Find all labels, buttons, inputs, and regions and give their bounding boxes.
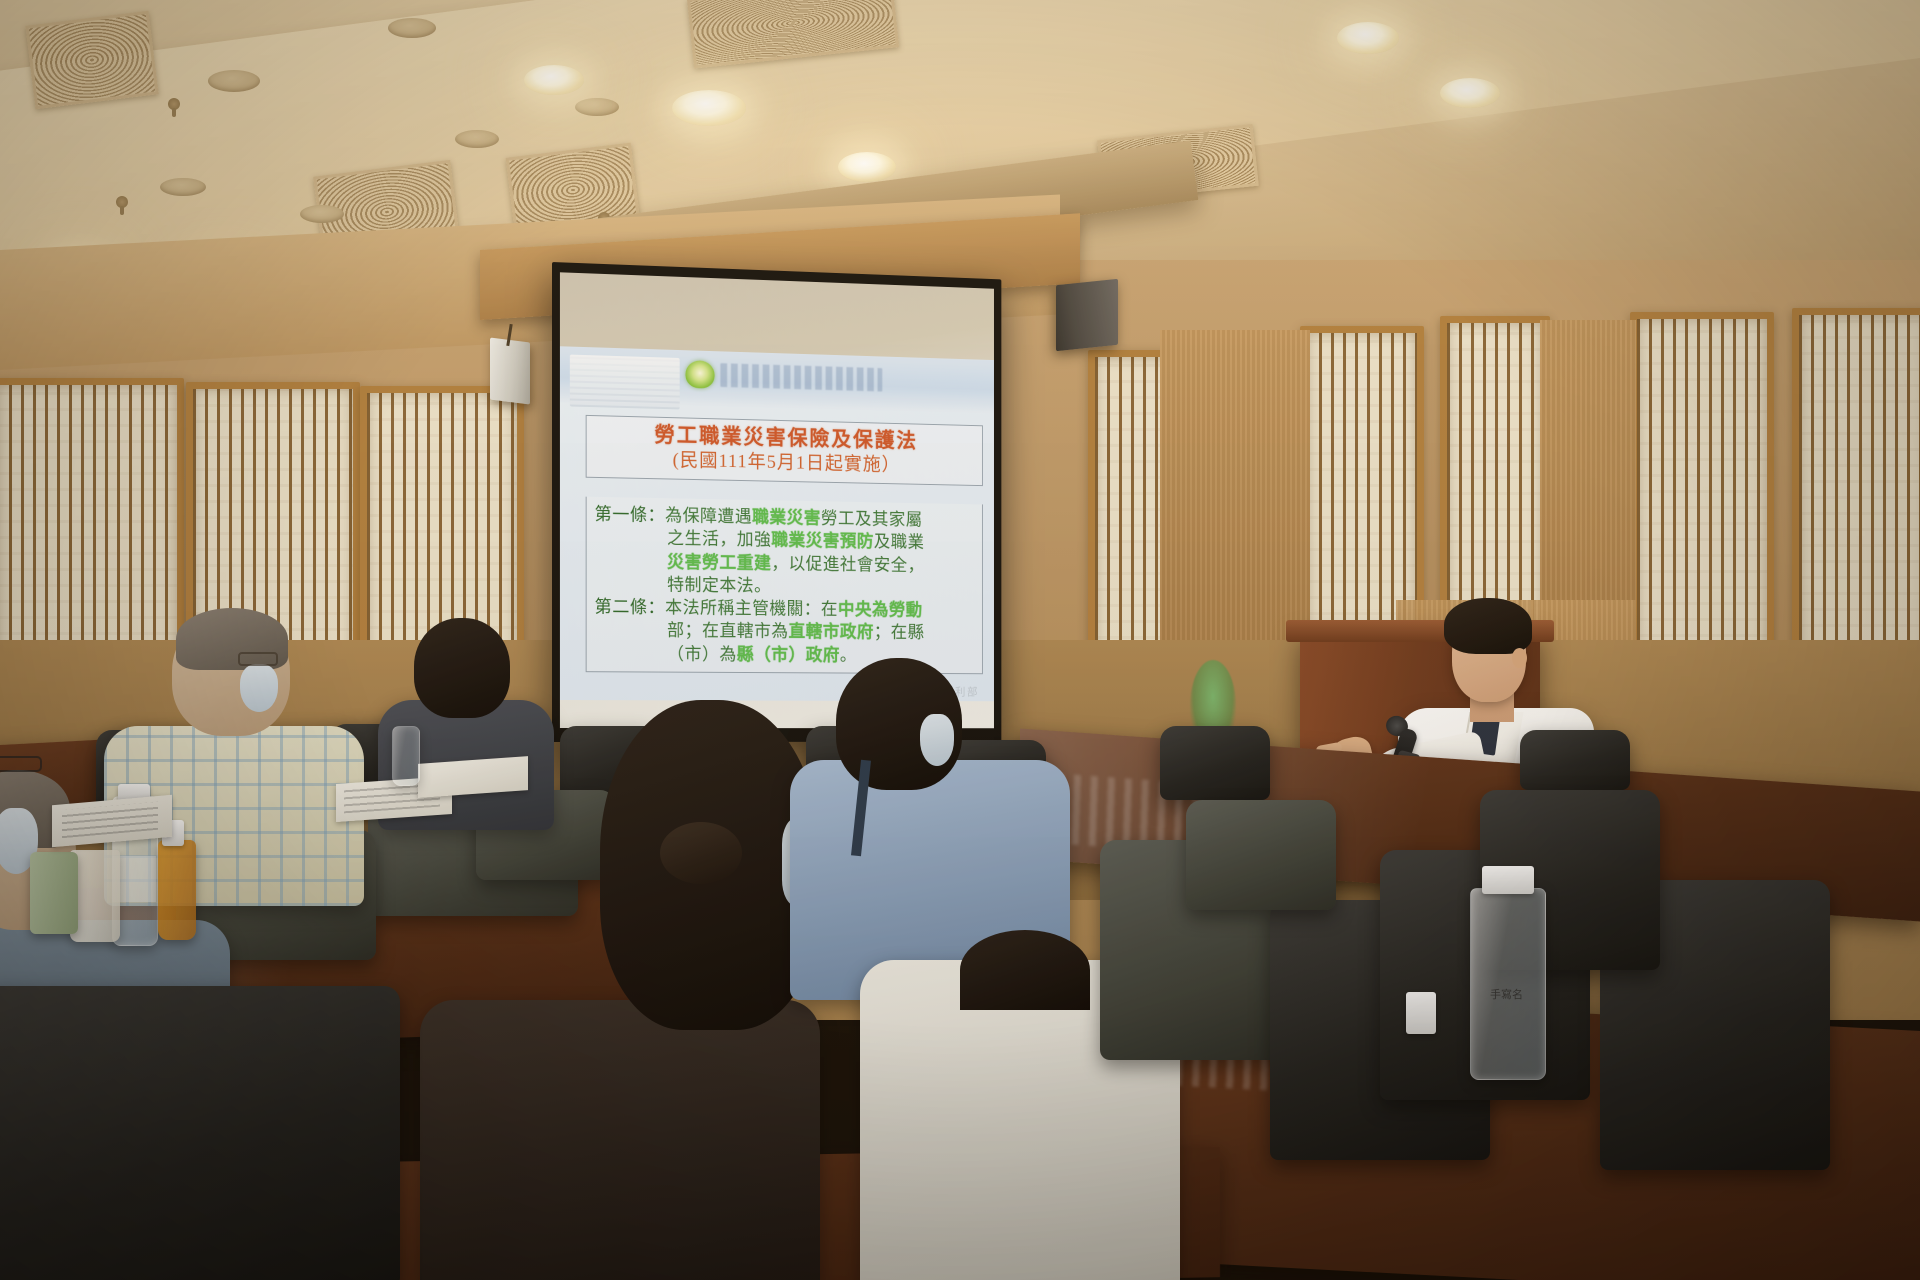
slide-body-box: 第一條：為保障遭遇職業災害勞工及其家屬 之生活，加強職業災害預防及職業 災害勞工… xyxy=(586,497,983,675)
chair-row2-right xyxy=(1186,800,1336,910)
lattice-window-right-3 xyxy=(1440,316,1550,630)
attendee-plaid-glasses-icon xyxy=(238,652,278,666)
water-bottle-back-row xyxy=(392,726,420,786)
ceiling-downlight-off-4 xyxy=(160,178,206,196)
article-2-line-2: 部；在直轄市為直轄市政府；在縣 xyxy=(595,619,977,645)
ceiling-downlight-on-3 xyxy=(838,152,896,182)
text: 及職業 xyxy=(874,532,925,552)
text: 為保障遭遇 xyxy=(665,505,752,526)
hospital-name-text xyxy=(720,363,882,391)
ceiling-downlight-on-4 xyxy=(1337,22,1399,54)
attendee-blue-face-mask xyxy=(920,714,954,766)
tea-pouch xyxy=(158,840,196,940)
text: 部；在直轄市為 xyxy=(667,620,788,641)
ceiling-downlight-off-1 xyxy=(208,70,260,92)
slide-title-box: 勞工職業災害保險及保護法 (民國111年5月1日起實施） xyxy=(586,415,983,487)
presenter-hair xyxy=(1444,598,1532,654)
article-2-label: 第二條： xyxy=(595,597,666,618)
hospital-building-photo-icon xyxy=(570,355,680,410)
ceiling-downlight-off-5 xyxy=(300,205,344,223)
presenter-ear xyxy=(1512,648,1527,668)
hospital-emblem-icon xyxy=(686,360,715,389)
ceiling-downlight-off-3 xyxy=(455,130,499,148)
water-bottle-cap-right xyxy=(1482,866,1534,894)
sprinkler-head-1 xyxy=(168,98,180,110)
highlight: 職業災害 xyxy=(752,507,821,528)
text: 。 xyxy=(840,645,857,665)
article-1-label: 第一條： xyxy=(595,504,666,525)
water-bottle-right xyxy=(1470,888,1546,1080)
ceiling-vent-1 xyxy=(25,11,158,109)
attendee-white-head xyxy=(960,930,1090,1010)
article-2-line-1: 第二條：本法所稱主管機關：在中央為勞動 xyxy=(595,596,977,623)
text: 本法所稱主管機關：在 xyxy=(665,597,838,618)
small-spray-bottle-cap xyxy=(1406,992,1436,1034)
chair-back-6 xyxy=(1160,726,1270,800)
highlight: 縣（市）政府 xyxy=(737,644,840,664)
ceiling-downlight-off-2 xyxy=(388,18,436,38)
attendee-dark-head xyxy=(414,618,510,718)
chair-back-7 xyxy=(1520,730,1630,790)
attendee-woman-torso xyxy=(420,1000,820,1280)
slide-content: 勞工職業災害保險及保護法 (民國111年5月1日起實施） 第一條：為保障遭遇職業… xyxy=(560,346,994,701)
highlight: 直轄市政府 xyxy=(789,622,874,642)
highlight: 中央為勞動 xyxy=(838,599,923,619)
green-tumbler xyxy=(30,852,78,934)
attendee-gray-glasses-icon xyxy=(0,756,42,772)
text: ；在縣 xyxy=(874,622,925,642)
attendee-woman-hair-bun xyxy=(660,822,742,884)
highlight: 職業災害預防 xyxy=(771,530,873,551)
text: 之生活，加強 xyxy=(667,528,771,549)
ceiling-downlight-on-1 xyxy=(672,90,746,126)
attendee-plaid-face-mask xyxy=(240,664,278,712)
wall-speaker-right xyxy=(1056,279,1118,352)
ceiling-downlight-off-6 xyxy=(575,98,619,116)
chair-bottom-left xyxy=(0,986,400,1280)
water-bottle-written-label: 手寫名 xyxy=(1490,986,1523,1002)
text: ，以促進社會安全， xyxy=(771,553,924,575)
highlight: 災害勞工重建 xyxy=(667,551,771,572)
ceiling-downlight-on-2 xyxy=(524,65,584,95)
lecture-room-photo: 勞工職業災害保險及保護法 (民國111年5月1日起實施） 第一條：為保障遭遇職業… xyxy=(0,0,1920,1280)
ceiling-downlight-on-5 xyxy=(1440,78,1500,108)
wall-speaker-left xyxy=(490,338,530,405)
text: （市）為 xyxy=(667,643,737,663)
text: 勞工及其家屬 xyxy=(821,508,923,529)
sprinkler-head-2 xyxy=(116,196,128,208)
text: 特制定本法。 xyxy=(667,574,771,595)
lattice-pattern xyxy=(1447,323,1543,623)
